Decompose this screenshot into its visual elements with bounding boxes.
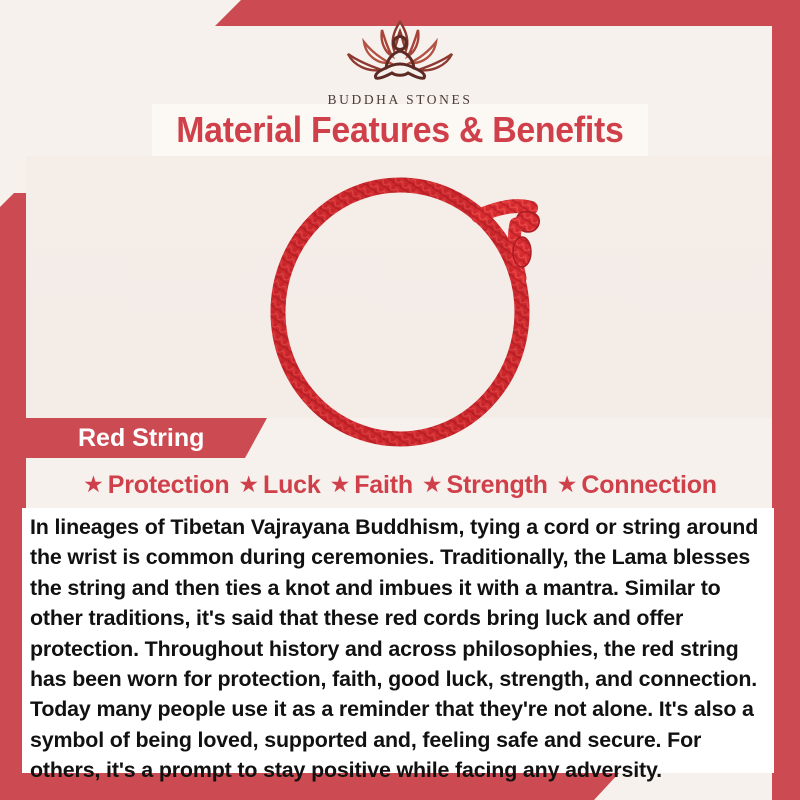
star-icon: ★ <box>557 473 578 496</box>
product-label: Red String <box>22 424 204 453</box>
title-banner: Material Features & Benefits <box>152 104 648 156</box>
product-label-ribbon: Red String <box>22 418 267 458</box>
benefit-label: Luck <box>263 471 321 500</box>
description-panel: In lineages of Tibetan Vajrayana Buddhis… <box>22 508 774 773</box>
star-icon: ★ <box>83 473 104 496</box>
star-icon: ★ <box>422 473 443 496</box>
benefit-label: Faith <box>354 471 413 500</box>
benefit-label: Protection <box>108 471 230 500</box>
benefit-item-protection: ★ Protection <box>83 471 229 500</box>
lotus-meditation-icon <box>320 16 480 90</box>
benefit-item-connection: ★ Connection <box>557 471 717 500</box>
benefit-item-strength: ★ Strength <box>422 471 548 500</box>
star-icon: ★ <box>238 473 259 496</box>
benefits-row: ★ Protection ★ Luck ★ Faith ★ Strength ★… <box>26 464 774 506</box>
benefit-item-luck: ★ Luck <box>238 471 320 500</box>
benefit-label: Strength <box>447 471 548 500</box>
star-icon: ★ <box>330 473 351 496</box>
brand-logo: BUDDHA STONES <box>0 16 800 108</box>
product-image-red-string-bracelet <box>250 160 580 460</box>
description-text: In lineages of Tibetan Vajrayana Buddhis… <box>30 512 764 786</box>
benefit-label: Connection <box>581 471 717 500</box>
page-title: Material Features & Benefits <box>176 109 623 151</box>
benefit-item-faith: ★ Faith <box>330 471 413 500</box>
decorative-band-right <box>772 0 800 800</box>
infographic-page: BUDDHA STONES Material Features & Benefi… <box>0 0 800 800</box>
